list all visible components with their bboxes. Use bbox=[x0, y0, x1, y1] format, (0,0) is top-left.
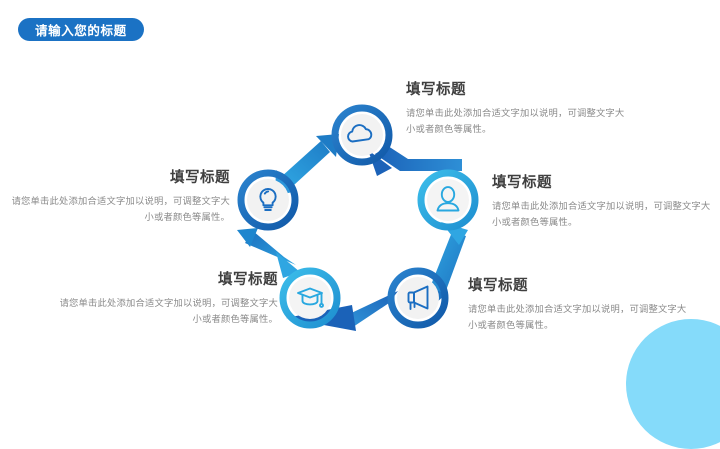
text-block-right: 填写标题 请您单击此处添加合适文字加以说明，可调整文字大小或者颜色等属性。 bbox=[492, 171, 714, 231]
text-block-top-right: 填写标题 请您单击此处添加合适文字加以说明，可调整文字大小或者颜色等属性。 bbox=[406, 78, 628, 138]
node-lightbulb[interactable] bbox=[241, 173, 295, 227]
block-title: 填写标题 bbox=[468, 274, 690, 295]
connector-lightbulb-to-cloud bbox=[275, 134, 339, 196]
text-block-bottom-left: 填写标题 请您单击此处添加合适文字加以说明，可调整文字大小或者颜色等属性。 bbox=[56, 268, 278, 328]
block-body: 请您单击此处添加合适文字加以说明，可调整文字大小或者颜色等属性。 bbox=[406, 105, 628, 138]
text-block-left: 填写标题 请您单击此处添加合适文字加以说明，可调整文字大小或者颜色等属性。 bbox=[8, 166, 230, 226]
node-graduation-cap[interactable] bbox=[283, 271, 337, 325]
node-megaphone[interactable] bbox=[391, 271, 445, 325]
block-body: 请您单击此处添加合适文字加以说明，可调整文字大小或者颜色等属性。 bbox=[56, 295, 278, 328]
block-body: 请您单击此处添加合适文字加以说明，可调整文字大小或者颜色等属性。 bbox=[8, 193, 230, 226]
node-cloud[interactable] bbox=[335, 108, 389, 162]
block-title: 填写标题 bbox=[406, 78, 628, 99]
text-block-bottom-right: 填写标题 请您单击此处添加合适文字加以说明，可调整文字大小或者颜色等属性。 bbox=[468, 274, 690, 334]
page-title-badge: 请输入您的标题 bbox=[18, 18, 144, 41]
block-title: 填写标题 bbox=[8, 166, 230, 187]
block-body: 请您单击此处添加合适文字加以说明，可调整文字大小或者颜色等属性。 bbox=[468, 301, 690, 334]
block-body: 请您单击此处添加合适文字加以说明，可调整文字大小或者颜色等属性。 bbox=[492, 198, 714, 231]
block-title: 填写标题 bbox=[492, 171, 714, 192]
block-title: 填写标题 bbox=[56, 268, 278, 289]
node-person[interactable] bbox=[421, 173, 475, 227]
